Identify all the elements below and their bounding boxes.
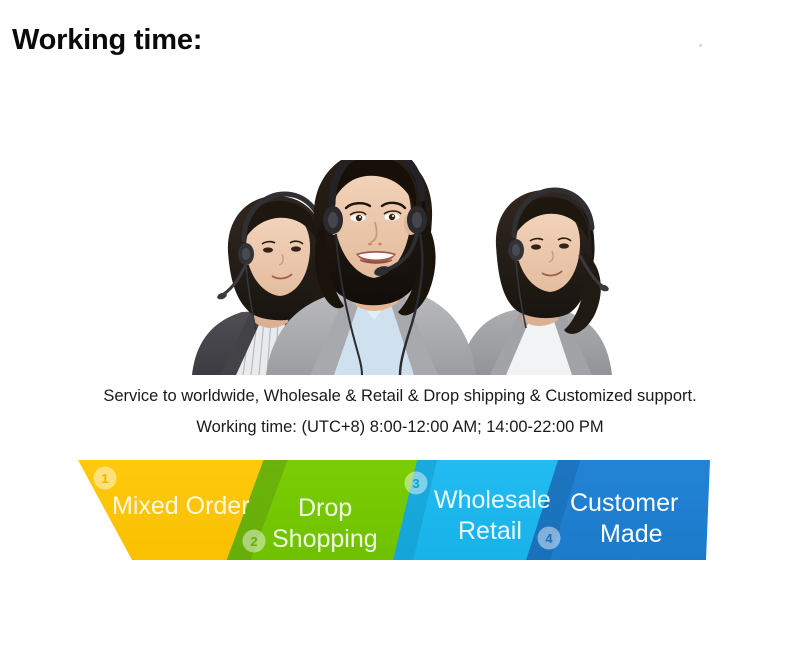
artifact-speck xyxy=(699,44,702,47)
page-title: Working time: xyxy=(12,24,202,57)
banner-segment-3-label-line1: Wholesale xyxy=(434,486,551,514)
badge-3-icon: 3 xyxy=(405,472,428,495)
working-time-caption-line2: Working time: (UTC+8) 8:00-12:00 AM; 14:… xyxy=(0,418,800,437)
banner-segment-2-label-line2: Shopping xyxy=(272,525,378,553)
banner-segment-3-label-line2: Retail xyxy=(458,517,522,545)
page-root: Working time: xyxy=(0,0,800,655)
service-caption-line1: Service to worldwide, Wholesale & Retail… xyxy=(0,387,800,406)
customer-service-agents-photo xyxy=(170,160,630,375)
banner-segment-1-label-line1: Mixed Order xyxy=(112,492,250,520)
svg-text:4: 4 xyxy=(545,531,553,546)
banner-segment-2-label-line1: Drop xyxy=(298,494,352,522)
svg-text:1: 1 xyxy=(101,471,108,486)
badge-2-icon: 2 xyxy=(243,530,266,553)
svg-text:3: 3 xyxy=(412,476,419,491)
banner-segment-4-label-line2: Made xyxy=(600,520,663,548)
banner-segment-4-label-line1: Customer xyxy=(570,489,678,517)
svg-text:2: 2 xyxy=(250,534,257,549)
badge-4-icon: 4 xyxy=(538,527,561,550)
service-feature-banner: 1 Mixed Order 2 Drop Shopping 3 Whole xyxy=(60,448,740,573)
badge-1-icon: 1 xyxy=(94,467,117,490)
